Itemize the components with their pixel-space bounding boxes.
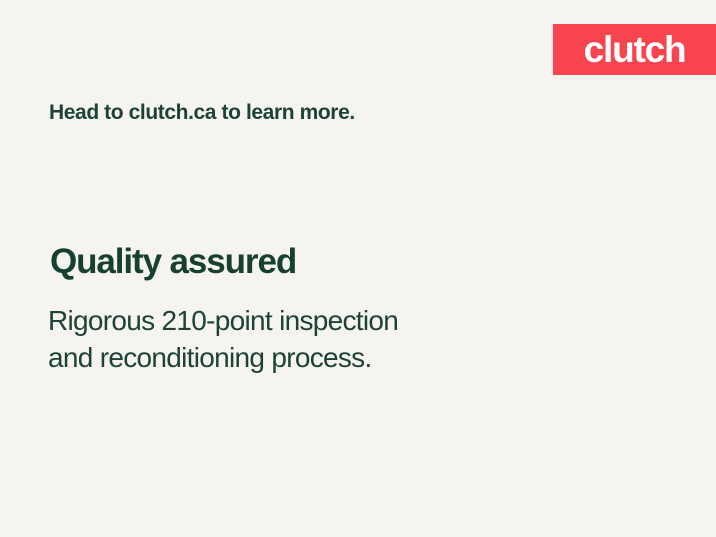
clutch-logo-badge[interactable]: clutch <box>553 24 716 75</box>
cta-text: Head to clutch.ca to learn more. <box>49 101 355 125</box>
promo-slide: clutch Head to clutch.ca to learn more. … <box>0 0 716 537</box>
subheadline: Rigorous 210-point inspection and recond… <box>48 303 398 377</box>
subheadline-line-1: Rigorous 210-point inspection <box>48 303 398 340</box>
clutch-c-dot-icon <box>565 46 573 54</box>
clutch-wordmark: clutch <box>582 31 688 68</box>
subheadline-line-2: and reconditioning process. <box>48 340 398 377</box>
headline: Quality assured <box>50 243 296 281</box>
